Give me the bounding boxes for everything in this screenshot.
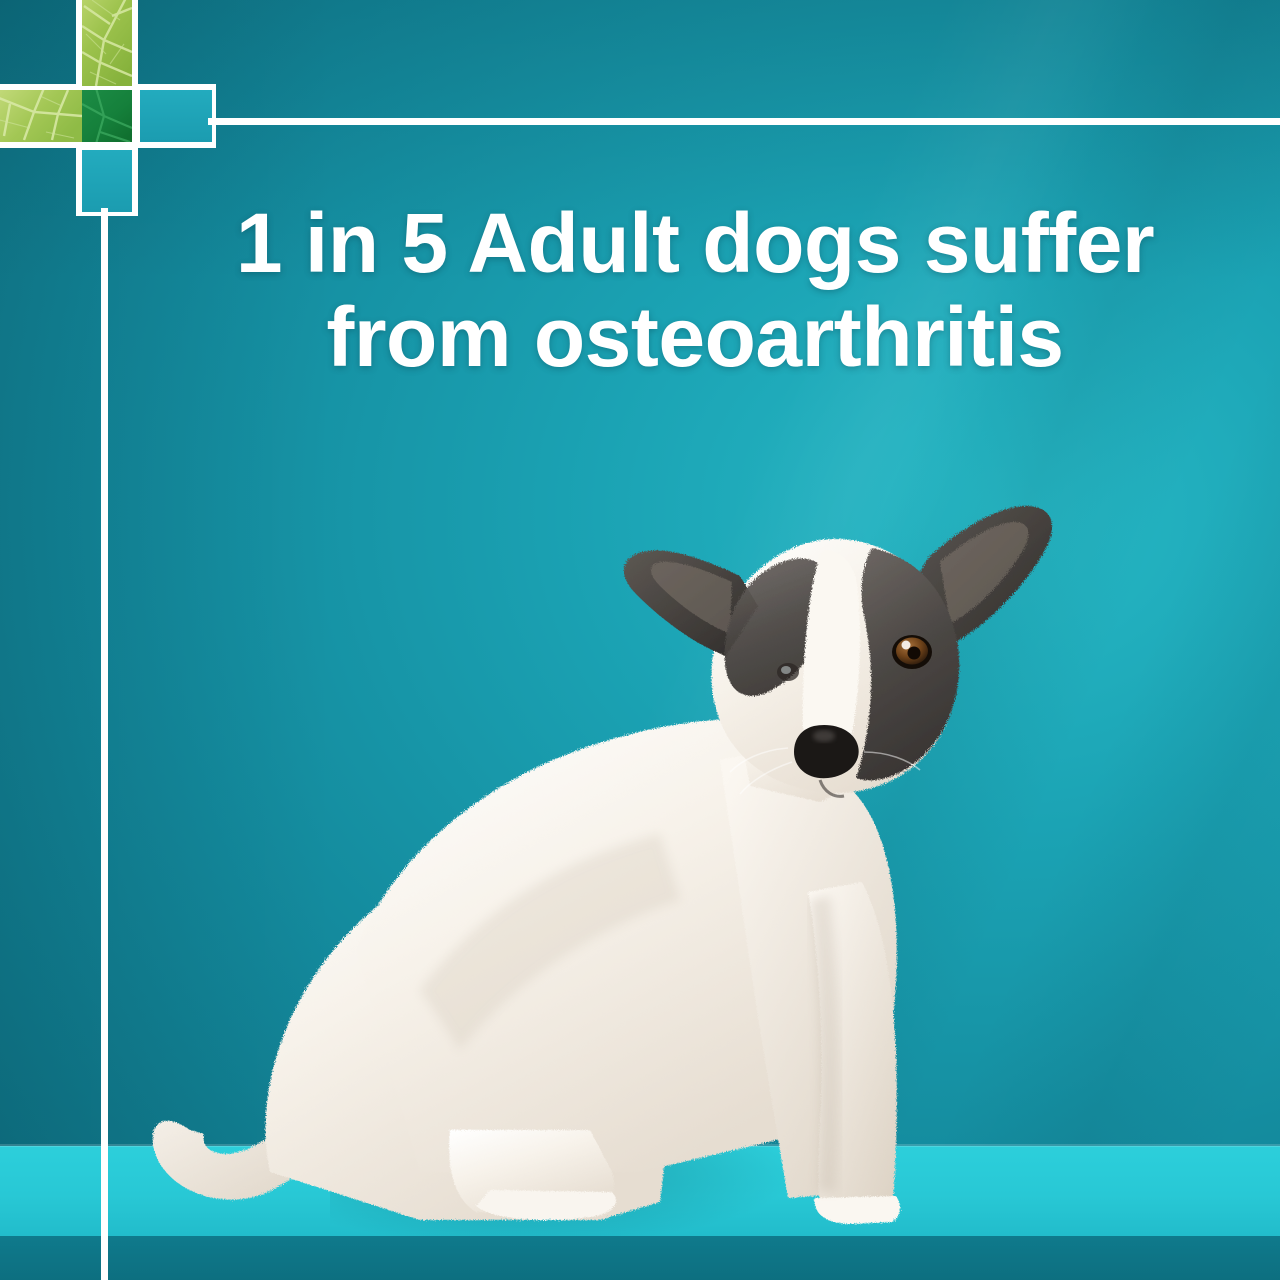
headline-line-1: 1 in 5 Adult dogs suffer [150,196,1240,290]
headline-line-2: from osteoarthritis [150,290,1240,384]
left-divider [101,208,108,1280]
page-title: 1 in 5 Adult dogs suffer from osteoarthr… [150,196,1240,384]
header-divider [208,118,1280,125]
dog-photo [120,430,1120,1260]
poster-canvas: 1 in 5 Adult dogs suffer from osteoarthr… [0,0,1280,1280]
